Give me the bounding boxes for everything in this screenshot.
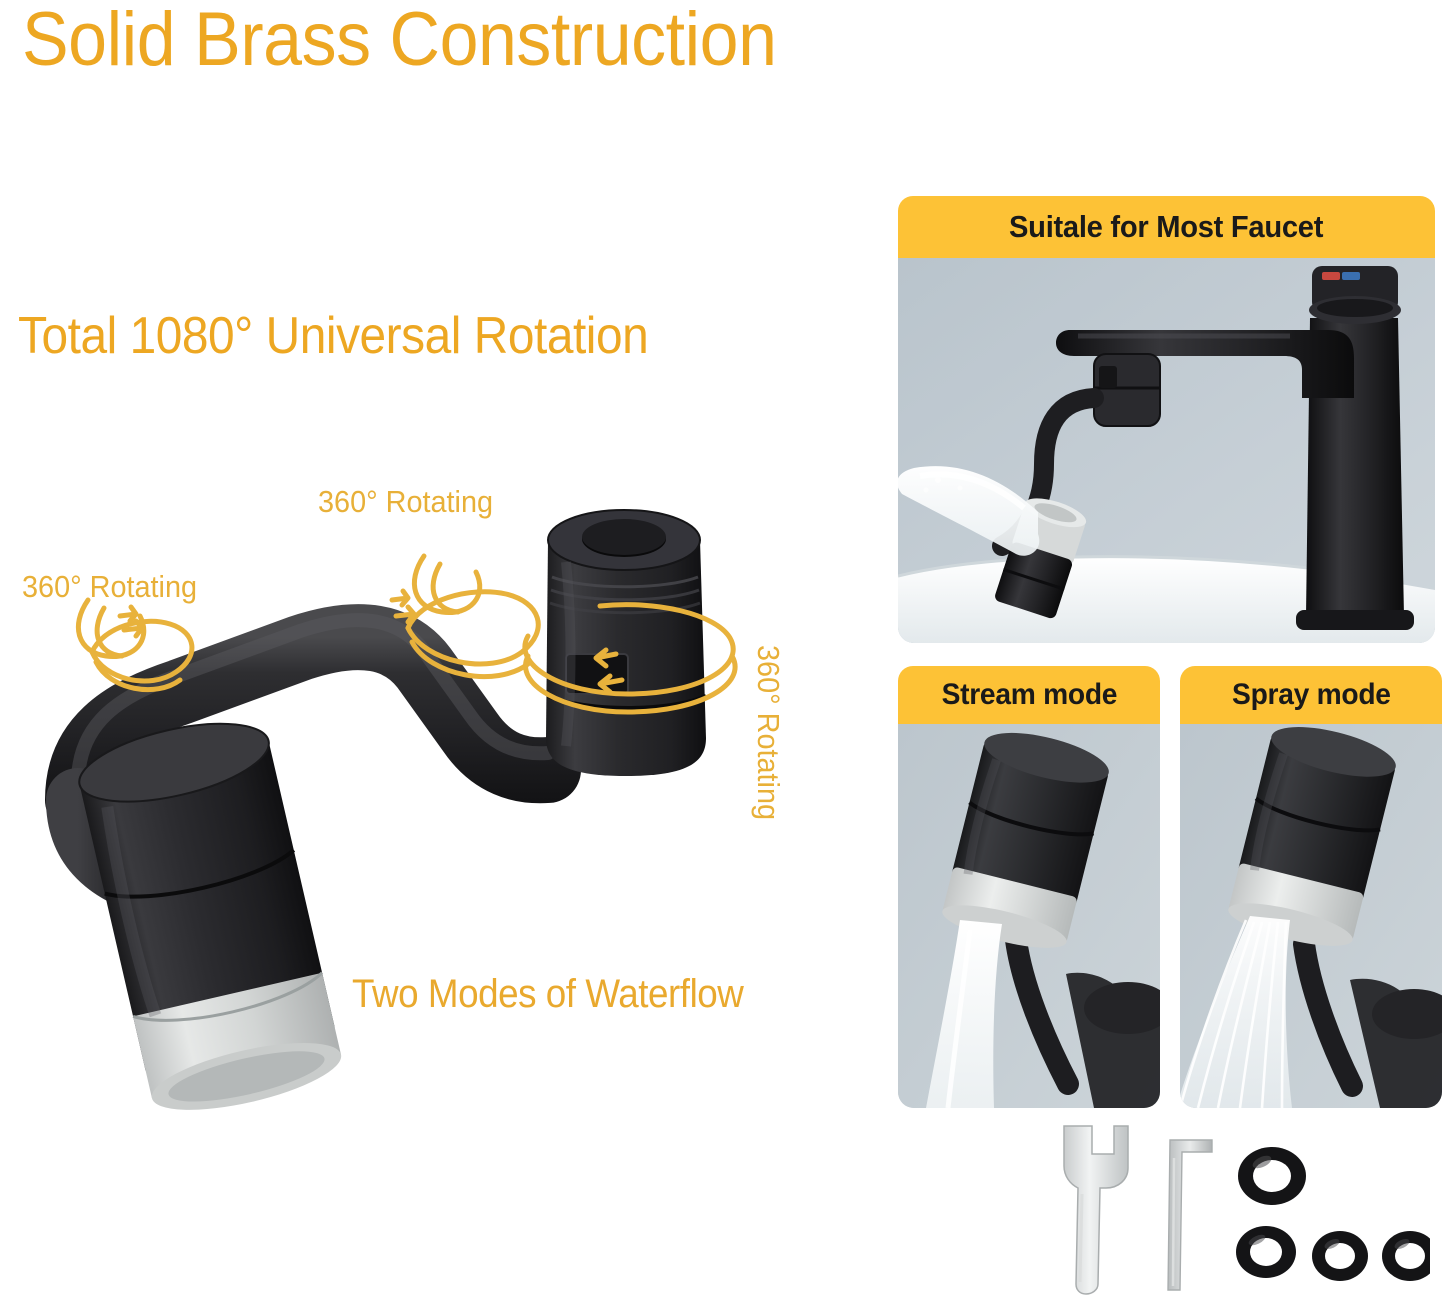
page-title: Solid Brass Construction [22, 0, 777, 82]
panel-banner-faucet-text: Suitale for Most Faucet [1009, 209, 1323, 245]
hex-key-icon [1168, 1140, 1212, 1290]
wrench-icon [1064, 1126, 1128, 1294]
panel-banner-faucet: Suitale for Most Faucet [898, 196, 1435, 258]
panel-banner-stream: Stream mode [898, 666, 1160, 724]
panel-image-spray [1180, 724, 1442, 1108]
o-ring-small [1236, 1226, 1296, 1278]
panel-suitable-faucet: Suitale for Most Faucet [898, 196, 1435, 643]
infographic-canvas: Solid Brass Construction Total 1080° Uni… [0, 0, 1445, 1298]
panel-spray-mode: Spray mode [1180, 666, 1442, 1108]
panel-image-stream [898, 724, 1160, 1108]
rotation-label-top: 360° Rotating [318, 484, 493, 520]
panel-image-faucet [898, 258, 1435, 643]
product-illustration [0, 440, 870, 1160]
o-ring-large [1238, 1147, 1306, 1205]
rotation-title: Total 1080° Universal Rotation [18, 308, 648, 365]
panel-stream-mode: Stream mode [898, 666, 1160, 1108]
rotation-label-right: 360° Rotating [750, 645, 786, 820]
rotation-label-left: 360° Rotating [22, 569, 197, 605]
waterflow-label: Two Modes of Waterflow [352, 972, 743, 1017]
panel-banner-stream-text: Stream mode [941, 678, 1117, 712]
panel-banner-spray: Spray mode [1180, 666, 1442, 724]
accessories-group [1030, 1118, 1430, 1298]
panel-banner-spray-text: Spray mode [1232, 678, 1391, 712]
o-ring-small [1382, 1231, 1430, 1281]
o-ring-small [1312, 1231, 1368, 1281]
